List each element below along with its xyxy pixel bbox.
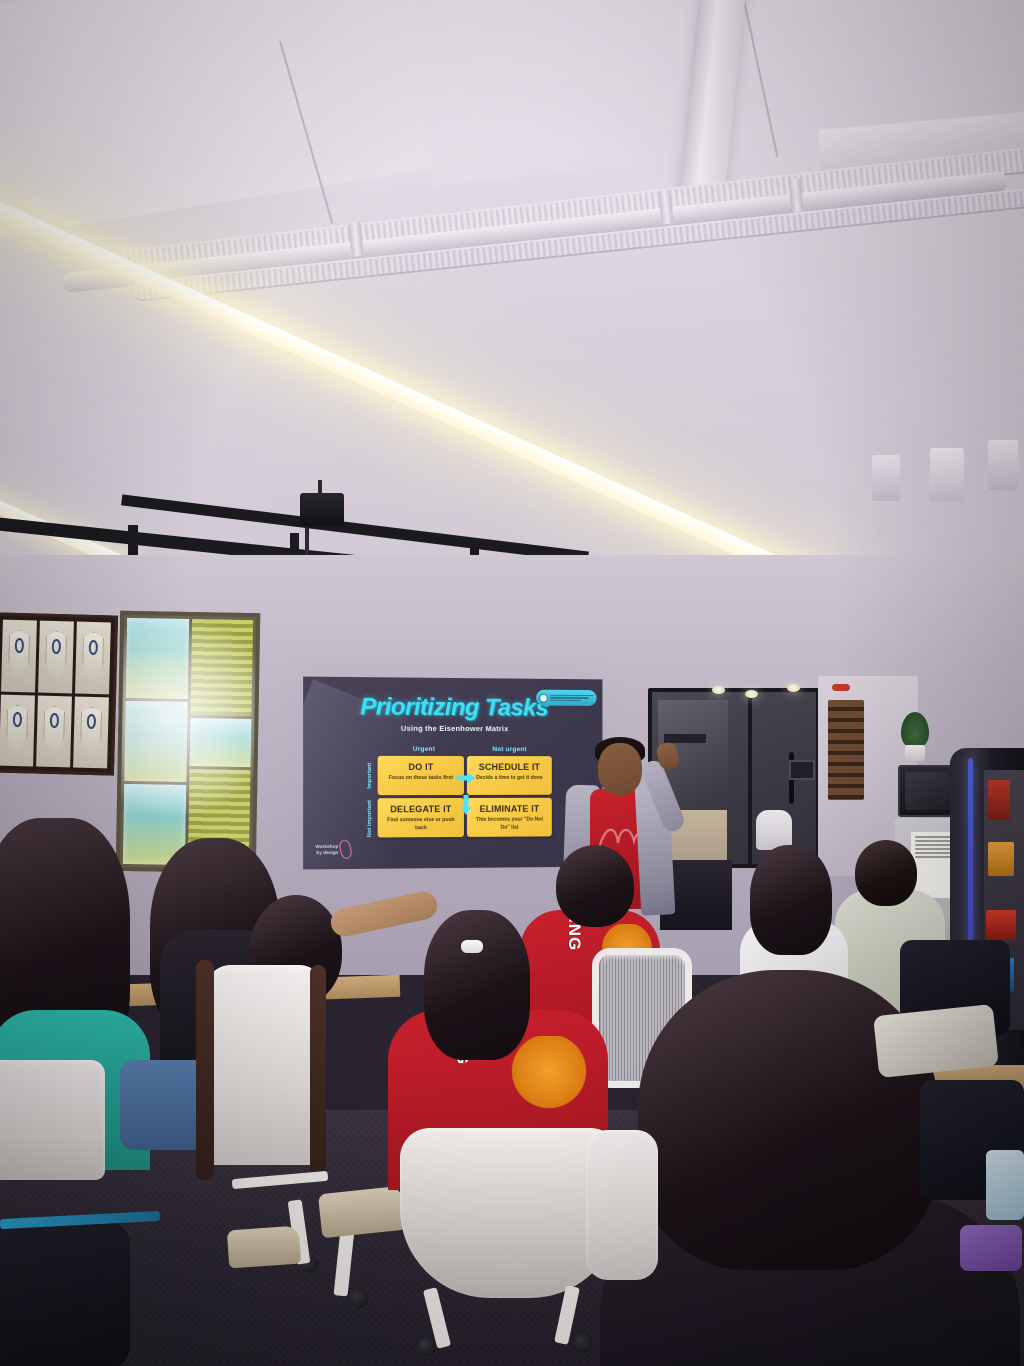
photo-scene: Prioritizing Tasks Using the Eisenhower … xyxy=(0,0,1024,1366)
chair-caster xyxy=(418,1338,436,1356)
bag xyxy=(0,1220,130,1366)
purple-item xyxy=(960,1225,1022,1271)
chair-caster xyxy=(350,1290,368,1308)
attendee-head xyxy=(556,845,634,927)
office-chair xyxy=(0,1060,105,1180)
lion-head-graphic xyxy=(506,1036,592,1114)
chair-frame-dark xyxy=(196,960,214,1180)
chair-frame-dark xyxy=(310,965,326,1180)
sneaker xyxy=(318,1186,406,1239)
jacket-on-table xyxy=(873,1004,999,1078)
audience-foreground: ING ING xyxy=(0,0,1024,1366)
sneaker xyxy=(227,1226,301,1269)
attendee-head xyxy=(855,840,917,906)
chair-caster xyxy=(574,1334,592,1352)
hair-clip xyxy=(461,940,483,953)
office-chair xyxy=(586,1130,658,1280)
attendee-head xyxy=(750,845,832,955)
office-chair xyxy=(205,965,325,1165)
attendee-head xyxy=(424,910,530,1060)
plastic-bag xyxy=(986,1150,1024,1220)
attendee-arm xyxy=(328,889,439,939)
